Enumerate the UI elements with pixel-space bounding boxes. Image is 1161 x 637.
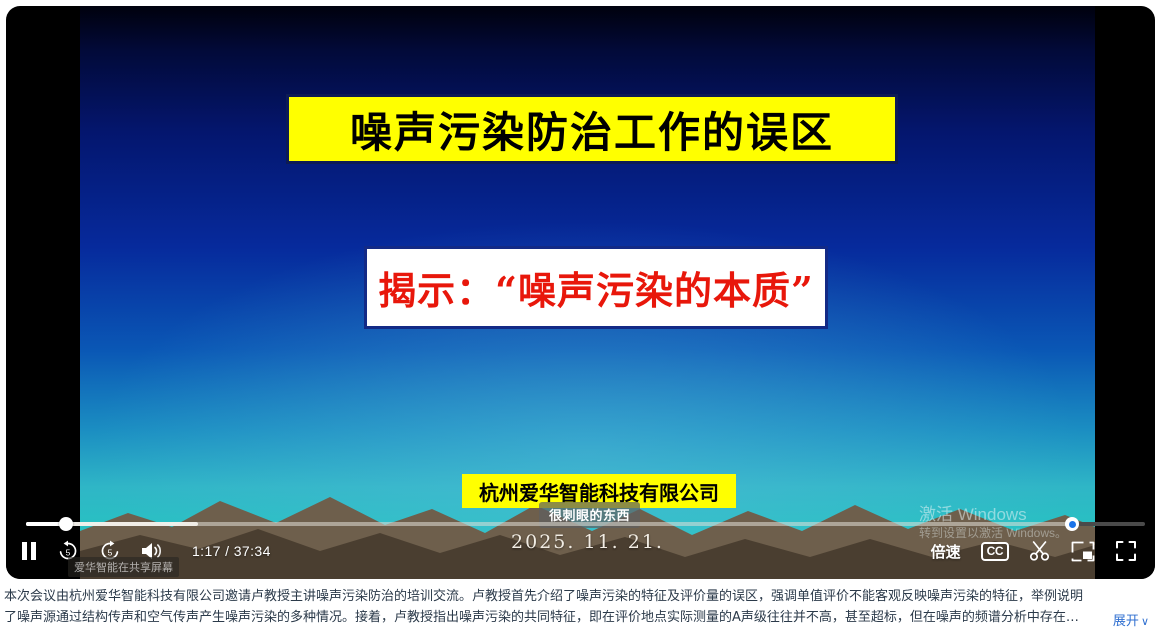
time-display: 1:17 / 37:34 — [192, 543, 271, 559]
playback-speed-button[interactable]: 倍速 — [931, 541, 961, 562]
video-player[interactable]: 噪声污染防治工作的误区 揭示：“噪声污染的本质” 杭州爱华智能科技有限公司 很刺… — [6, 6, 1155, 579]
svg-text:5: 5 — [108, 547, 113, 557]
clip-button[interactable] — [1029, 540, 1051, 562]
player-controls[interactable]: 5 5 1:17 / 3 — [6, 523, 1155, 579]
slide-subtitle-box: 揭示：“噪声污染的本质” — [364, 246, 828, 329]
video-description: 本次会议由杭州爱华智能科技有限公司邀请卢教授主讲噪声污染防治的培训交流。卢教授首… — [0, 586, 1161, 628]
closed-caption-icon: CC — [981, 542, 1009, 561]
slide-subtitle-text: 揭示：“噪声污染的本质” — [378, 260, 814, 315]
video-frame[interactable]: 噪声污染防治工作的误区 揭示：“噪声污染的本质” 杭州爱华智能科技有限公司 很刺… — [80, 6, 1095, 579]
page-root: 噪声污染防治工作的误区 揭示：“噪声污染的本质” 杭州爱华智能科技有限公司 很刺… — [0, 0, 1161, 637]
scissors-icon — [1029, 540, 1051, 562]
controls-right-group[interactable]: 倍速 CC — [931, 523, 1137, 579]
expand-description-button[interactable]: 展开∨ — [1105, 611, 1149, 632]
screen-share-watermark: 爱华智能在共享屏幕 — [68, 557, 179, 577]
closed-caption-button[interactable]: CC — [981, 542, 1009, 561]
description-text: 本次会议由杭州爱华智能科技有限公司邀请卢教授主讲噪声污染防治的培训交流。卢教授首… — [4, 586, 1147, 628]
slide-title-text: 噪声污染防治工作的误区 — [350, 99, 834, 160]
picture-in-picture-icon — [1071, 541, 1095, 562]
pause-button[interactable] — [20, 541, 38, 561]
fullscreen-icon — [1115, 540, 1137, 562]
slide-title-box: 噪声污染防治工作的误区 — [286, 94, 898, 164]
pause-icon — [20, 541, 38, 561]
fullscreen-button[interactable] — [1115, 540, 1137, 562]
chevron-down-icon: ∨ — [1141, 615, 1149, 628]
picture-in-picture-button[interactable] — [1071, 541, 1095, 562]
expand-label: 展开 — [1113, 614, 1139, 629]
svg-text:5: 5 — [66, 547, 71, 557]
